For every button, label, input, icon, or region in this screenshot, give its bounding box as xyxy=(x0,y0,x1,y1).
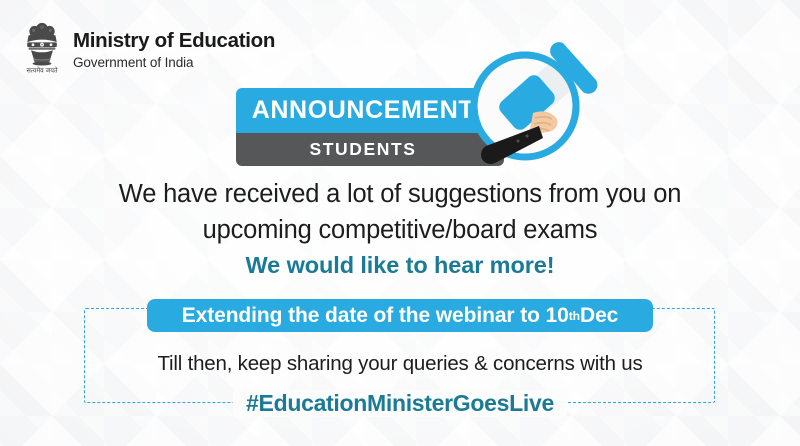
message-line-3-highlight: We would like to hear more! xyxy=(0,252,800,279)
campaign-hashtag: #EducationMinisterGoesLive xyxy=(233,390,567,417)
message-line-2: upcoming competitive/board exams xyxy=(0,212,800,248)
ministry-subtitle: Government of India xyxy=(73,56,275,70)
ashoka-lion-capital-emblem: सत्यमेव जयते xyxy=(22,22,62,78)
message-line-1: We have received a lot of suggestions fr… xyxy=(0,176,800,212)
announcement-poster: सत्यमेव जयते Ministry of Education Gover… xyxy=(0,0,800,446)
main-message: We have received a lot of suggestions fr… xyxy=(0,176,800,279)
webinar-date-text: Extending the date of the webinar to 10 xyxy=(182,304,569,328)
emblem-motto-text: सत्यमेव जयते xyxy=(26,67,57,75)
ministry-title: Ministry of Education xyxy=(73,31,275,52)
webinar-date-badge: Extending the date of the webinar to 10t… xyxy=(147,299,653,332)
webinar-date-month: Dec xyxy=(580,304,618,328)
footer-message: Till then, keep sharing your queries & c… xyxy=(0,352,800,376)
ministry-branding: सत्यमेव जयते Ministry of Education Gover… xyxy=(22,22,275,78)
megaphone-in-hand-icon xyxy=(455,18,605,173)
hashtag-row: #EducationMinisterGoesLive xyxy=(0,390,800,417)
